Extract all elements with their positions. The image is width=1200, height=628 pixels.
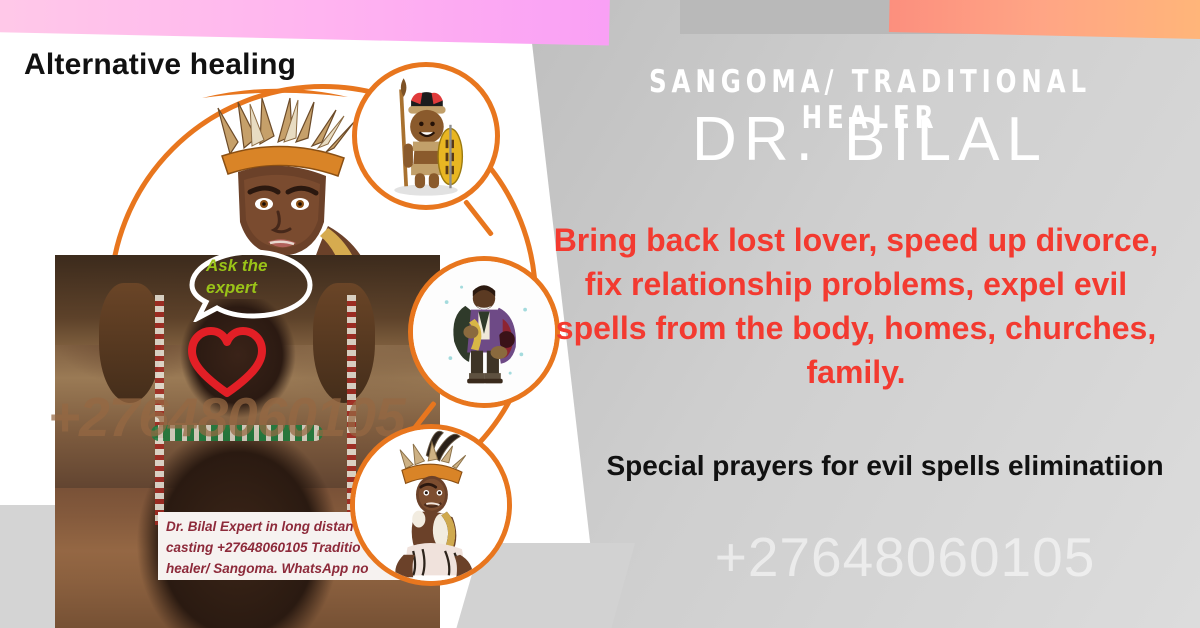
grey-bottom-left-block bbox=[0, 505, 58, 628]
speech-bubble-label: Ask the expert bbox=[206, 255, 316, 299]
circle-zulu-dancer bbox=[350, 424, 512, 586]
zulu-dancer-illustration-icon bbox=[355, 429, 507, 581]
special-prayers-text: Special prayers for evil spells eliminat… bbox=[600, 445, 1170, 487]
services-text: Bring back lost lover, speed up divorce,… bbox=[536, 218, 1176, 394]
zulu-warrior-cartoon-icon bbox=[357, 67, 495, 205]
healer-name: DR. BILAL bbox=[560, 104, 1180, 175]
red-heart-outline-icon bbox=[186, 325, 268, 399]
traditional-healer-illustration-icon bbox=[413, 261, 555, 403]
page-title: Alternative healing bbox=[24, 48, 296, 82]
advertisement-banner: Alternative healing bbox=[0, 0, 1200, 628]
circle-zulu-warrior bbox=[352, 62, 500, 210]
contact-phone-watermark: +27648060105 bbox=[620, 525, 1190, 589]
orange-arc-swoosh-icon bbox=[200, 84, 350, 100]
pink-top-bar bbox=[0, 0, 610, 46]
